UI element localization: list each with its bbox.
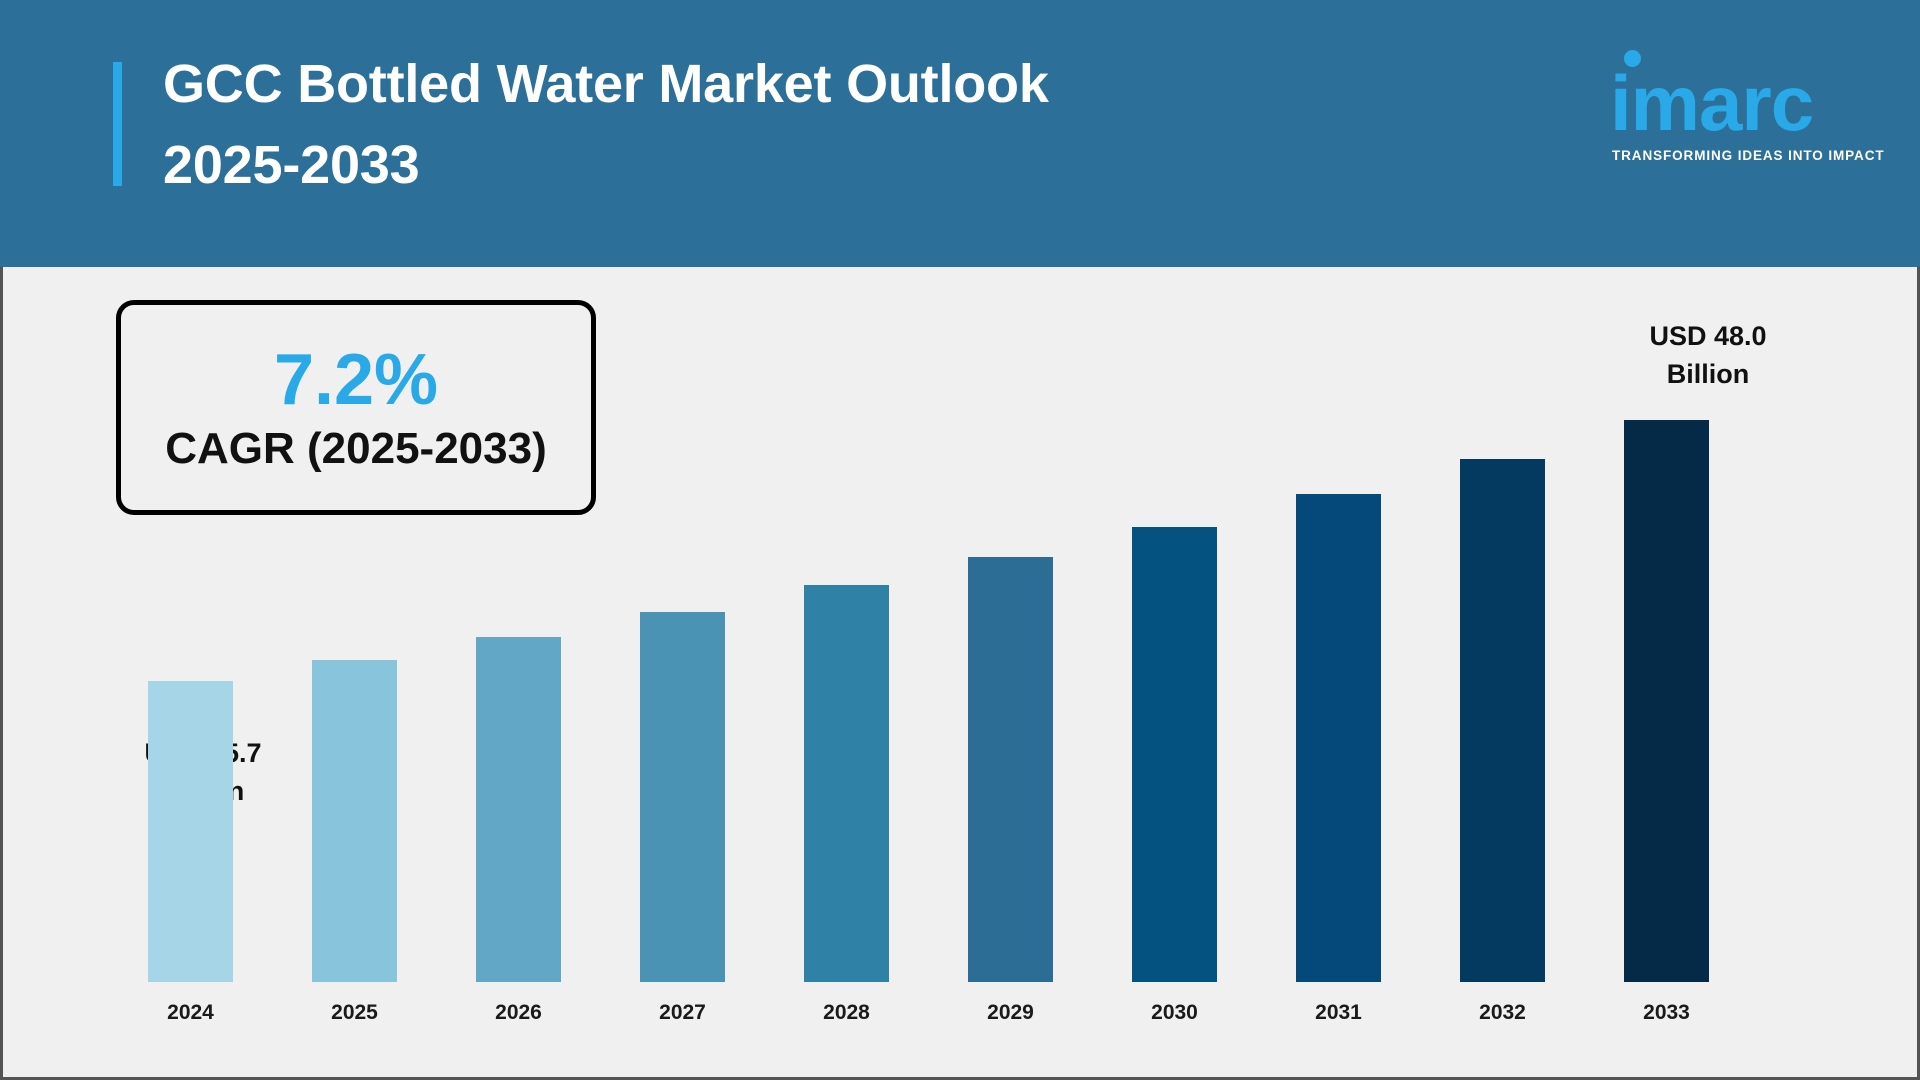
x-axis-label-2028: 2028 [774,1001,919,1025]
header-title-group: GCC Bottled Water Market Outlook 2025-20… [163,44,1463,206]
x-axis-label-2030: 2030 [1102,1001,1247,1025]
x-axis-label-2026: 2026 [446,1001,591,1025]
bar-2025 [312,660,397,982]
x-axis-label-2032: 2032 [1430,1001,1575,1025]
bar-2026 [476,637,561,982]
logo-tagline: TRANSFORMING IDEAS INTO IMPACT [1612,148,1885,163]
imarc-logo: imarc TRANSFORMING IDEAS INTO IMPACT [1610,48,1872,166]
header-accent-bar [113,62,122,186]
infographic-page: GCC Bottled Water Market Outlook 2025-20… [0,0,1920,1080]
x-axis-label-2024: 2024 [118,1001,263,1025]
bar-2027 [640,612,725,982]
x-axis-label-2025: 2025 [282,1001,427,1025]
bar-2024 [148,681,233,982]
logo-wordmark: imarc [1610,62,1813,144]
page-title-line-1: GCC Bottled Water Market Outlook [163,44,1463,125]
chart-body: 7.2% CAGR (2025-2033) USD 25.7 Billion U… [0,267,1920,1080]
bar-chart: 2024202520262027202820292030203120322033 [3,267,1920,1080]
bar-2033 [1624,420,1709,982]
x-axis-label-2027: 2027 [610,1001,755,1025]
bar-2029 [968,557,1053,982]
x-axis-label-2031: 2031 [1266,1001,1411,1025]
header-banner: GCC Bottled Water Market Outlook 2025-20… [0,0,1920,267]
x-axis-label-2033: 2033 [1594,1001,1739,1025]
bar-2032 [1460,459,1545,982]
bar-2031 [1296,494,1381,982]
page-title-line-2: 2025-2033 [163,125,1463,206]
x-axis-label-2029: 2029 [938,1001,1083,1025]
bar-2028 [804,585,889,982]
bar-2030 [1132,527,1217,982]
